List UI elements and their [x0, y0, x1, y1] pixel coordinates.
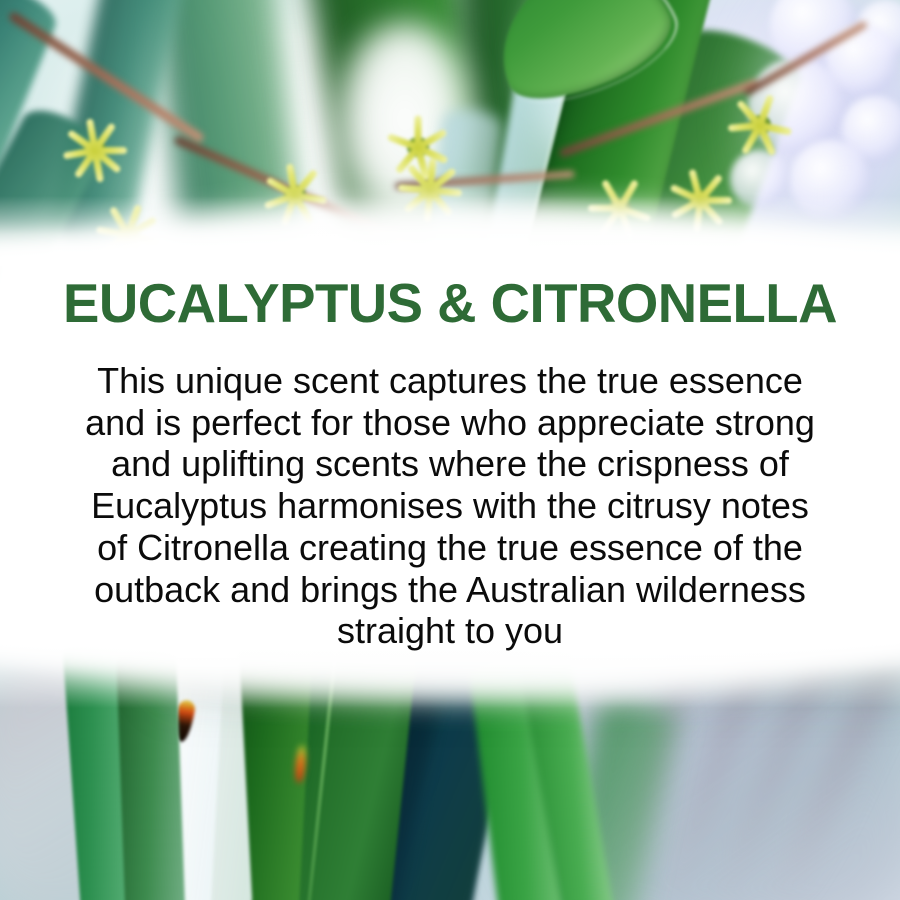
description-line: of Citronella creating the true essence …	[14, 527, 886, 569]
scent-description-card: EUCALYPTUS & CITRONELLA This unique scen…	[0, 0, 900, 900]
description-line: and uplifting scents where the crispness…	[14, 443, 886, 485]
description-line: straight to you	[14, 610, 886, 652]
page-title: EUCALYPTUS & CITRONELLA	[0, 274, 900, 334]
description-line: This unique scent captures the true esse…	[14, 360, 886, 402]
text-content: EUCALYPTUS & CITRONELLA This unique scen…	[0, 0, 900, 900]
description-line: outback and brings the Australian wilder…	[14, 569, 886, 611]
description-line: Eucalyptus harmonises with the citrusy n…	[14, 485, 886, 527]
description-paragraph: This unique scent captures the true esse…	[14, 360, 886, 652]
description-line: and is perfect for those who appreciate …	[14, 402, 886, 444]
